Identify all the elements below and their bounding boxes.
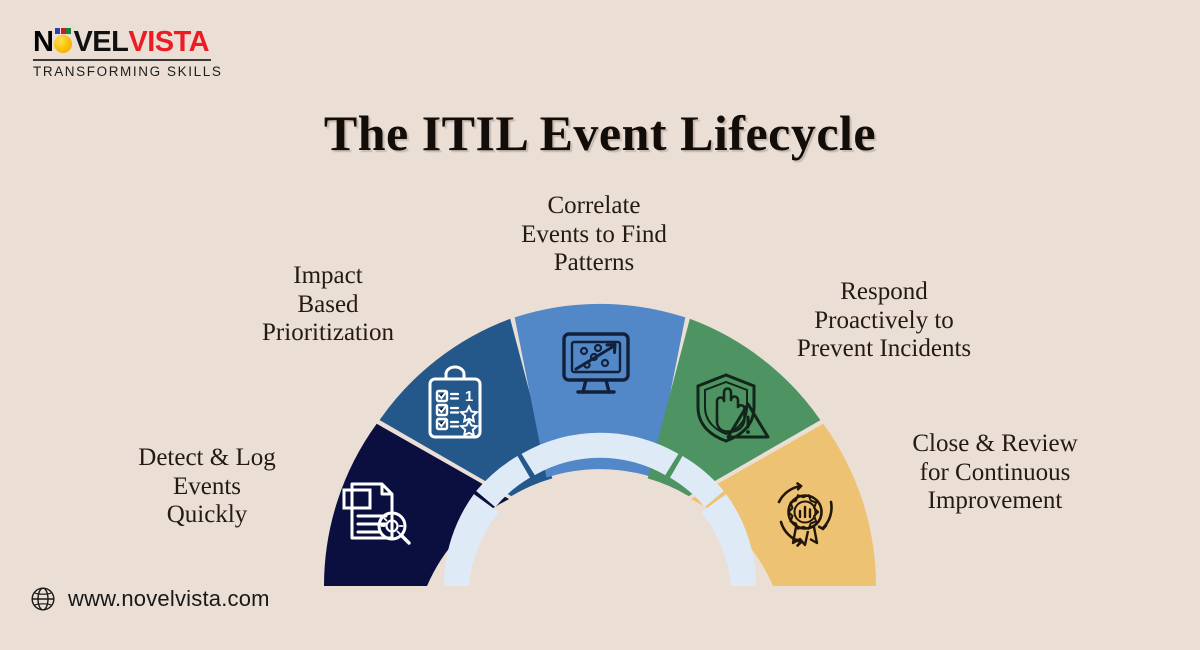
lifecycle-arc-diagram: 1 (0, 0, 1200, 650)
label-detect-log: Detect & Log Events Quickly (78, 444, 336, 530)
label-correlate-events: Correlate Events to Find Patterns (470, 192, 718, 278)
label-impact-prioritization: Impact Based Prioritization (210, 262, 446, 348)
infographic-canvas: N VEL VISTA TRANSFORMING SKILLS The ITIL… (0, 0, 1200, 650)
website-url: www.novelvista.com (68, 586, 270, 612)
label-respond-proactively: Respond Proactively to Prevent Incidents (760, 278, 1008, 364)
footer: www.novelvista.com (30, 586, 270, 612)
globe-icon (30, 586, 56, 612)
label-close-review: Close & Review for Continuous Improvemen… (870, 430, 1120, 516)
